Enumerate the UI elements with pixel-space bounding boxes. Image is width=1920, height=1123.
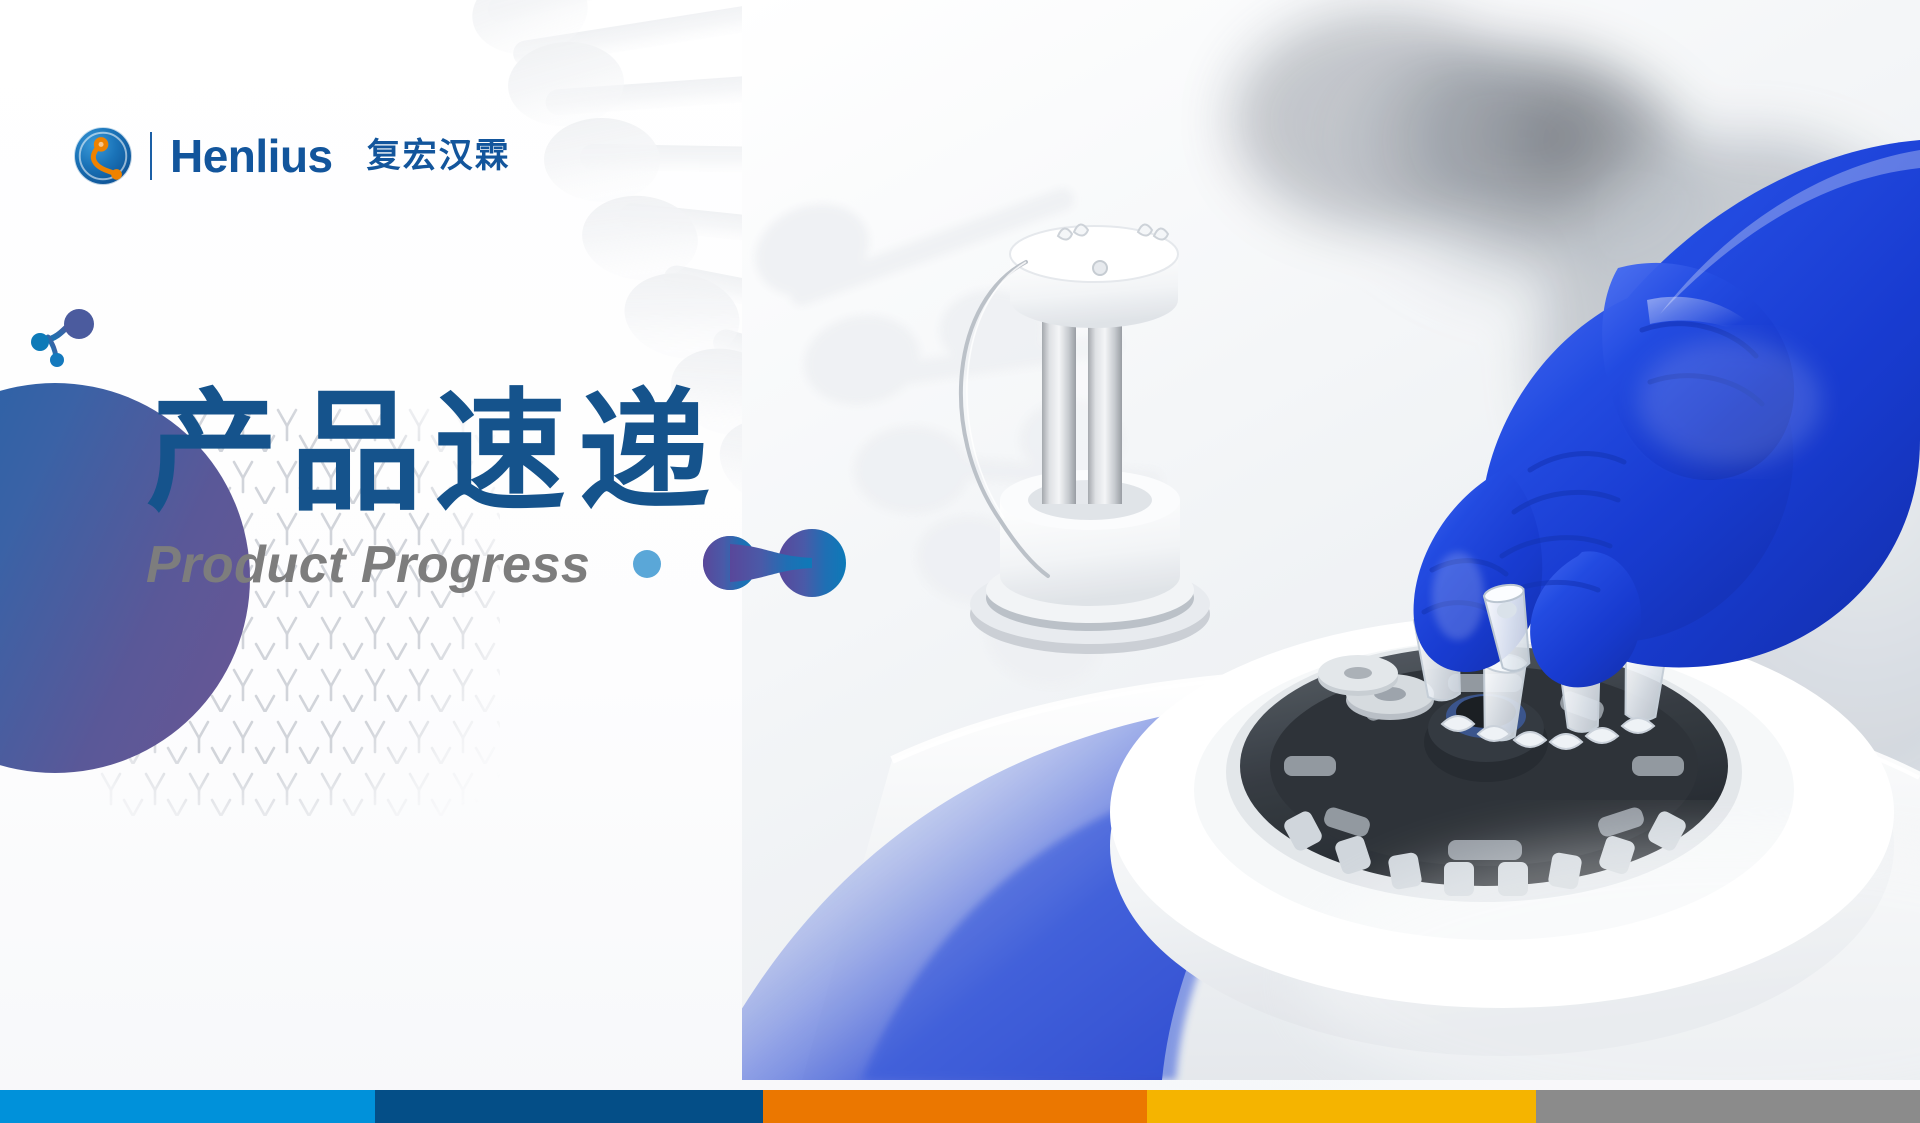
lab-centrifuge-photo [742,0,1920,1080]
color-bar-segment-grey [1536,1090,1920,1123]
henlius-logo-mark [72,125,134,187]
logo-chinese-name: 复宏汉霖 [367,139,511,173]
molecule-icon-small [25,305,115,375]
color-bar-segment-light-blue [0,1090,375,1123]
title-block: 产品速递 Product Progress [146,382,722,591]
logo-wordmark: Henlius [170,133,333,179]
color-bar-segment-orange [763,1090,1147,1123]
logo-divider [150,132,152,180]
page-title-cn: 产品速递 [146,382,722,525]
henlius-logo[interactable]: Henlius 复宏汉霖 [72,125,511,187]
color-bar-segment-dark-blue [375,1090,763,1123]
slide-canvas: Henlius 复宏汉霖 产品速递 Product Progress [0,0,1920,1123]
page-title-en: Product Progress [146,539,722,591]
brand-color-bar [0,1090,1920,1123]
color-bar-segment-yellow [1147,1090,1536,1123]
